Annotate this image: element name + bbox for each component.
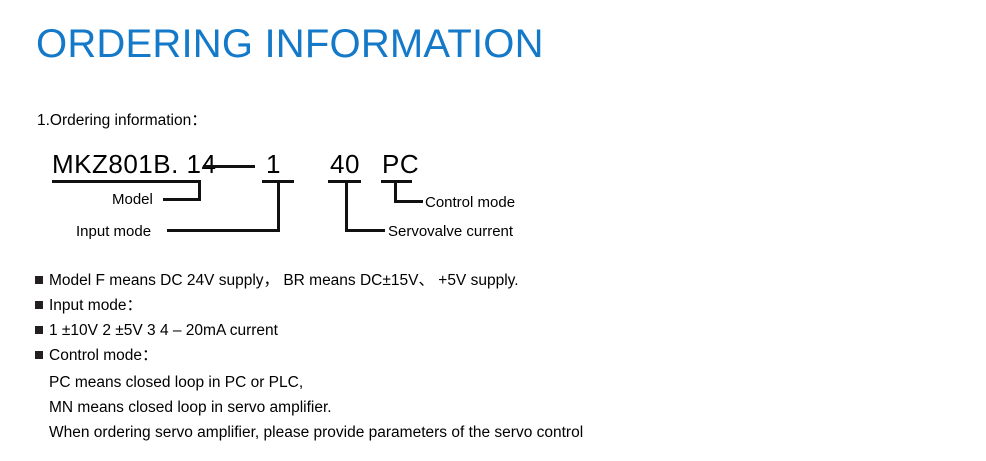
square-bullet-icon bbox=[35, 301, 43, 309]
leader-horizontal-servovalve-current bbox=[345, 229, 385, 232]
page-title: ORDERING INFORMATION bbox=[36, 20, 544, 68]
part-code-control-mode: PC bbox=[382, 149, 419, 179]
part-code-servovalve-current: 40 bbox=[330, 149, 360, 179]
leader-vertical-model bbox=[198, 180, 201, 201]
note-text: Control mode： bbox=[49, 343, 158, 368]
note-item: Control mode： bbox=[35, 343, 955, 368]
square-bullet-icon bbox=[35, 326, 43, 334]
note-item: 1 ±10V 2 ±5V 3 4 – 20mA current bbox=[35, 318, 955, 343]
detail-line: PC means closed loop in PC or PLC, bbox=[49, 370, 969, 395]
square-bullet-icon bbox=[35, 351, 43, 359]
detail-line: When ordering servo amplifier, please pr… bbox=[49, 420, 969, 445]
note-item: Input mode： bbox=[35, 293, 955, 318]
leader-label-control-mode: Control mode bbox=[425, 193, 515, 212]
note-text: Input mode： bbox=[49, 293, 142, 318]
section-heading: 1.Ordering information： bbox=[37, 111, 207, 131]
square-bullet-icon bbox=[35, 276, 43, 284]
leader-horizontal-input-mode bbox=[167, 229, 280, 232]
leader-label-input-mode: Input mode bbox=[76, 222, 151, 241]
underline-model bbox=[52, 180, 201, 183]
notes-list: Model F means DC 24V supply， BR means DC… bbox=[35, 268, 955, 368]
leader-horizontal-model bbox=[163, 198, 201, 201]
leader-vertical-input-mode bbox=[277, 180, 280, 232]
leader-label-model: Model bbox=[112, 190, 153, 209]
note-text: 1 ±10V 2 ±5V 3 4 – 20mA current bbox=[49, 318, 278, 343]
note-text: Model F means DC 24V supply， BR means DC… bbox=[49, 268, 519, 293]
underline-servovalve-current bbox=[328, 180, 361, 183]
part-code-model: MKZ801B. 14 bbox=[52, 149, 216, 179]
underline-input-mode bbox=[262, 180, 294, 183]
leader-vertical-control-mode bbox=[394, 180, 397, 203]
notes-detail-lines: PC means closed loop in PC or PLC, MN me… bbox=[49, 370, 969, 445]
leader-horizontal-control-mode bbox=[394, 200, 423, 203]
leader-vertical-servovalve-current bbox=[345, 180, 348, 232]
note-item: Model F means DC 24V supply， BR means DC… bbox=[35, 268, 955, 293]
code-dash-connector bbox=[203, 165, 255, 168]
underline-control-mode bbox=[381, 180, 412, 183]
leader-label-servovalve-current: Servovalve current bbox=[388, 222, 513, 241]
part-code-input-mode: 1 bbox=[266, 149, 281, 179]
detail-line: MN means closed loop in servo amplifier. bbox=[49, 395, 969, 420]
